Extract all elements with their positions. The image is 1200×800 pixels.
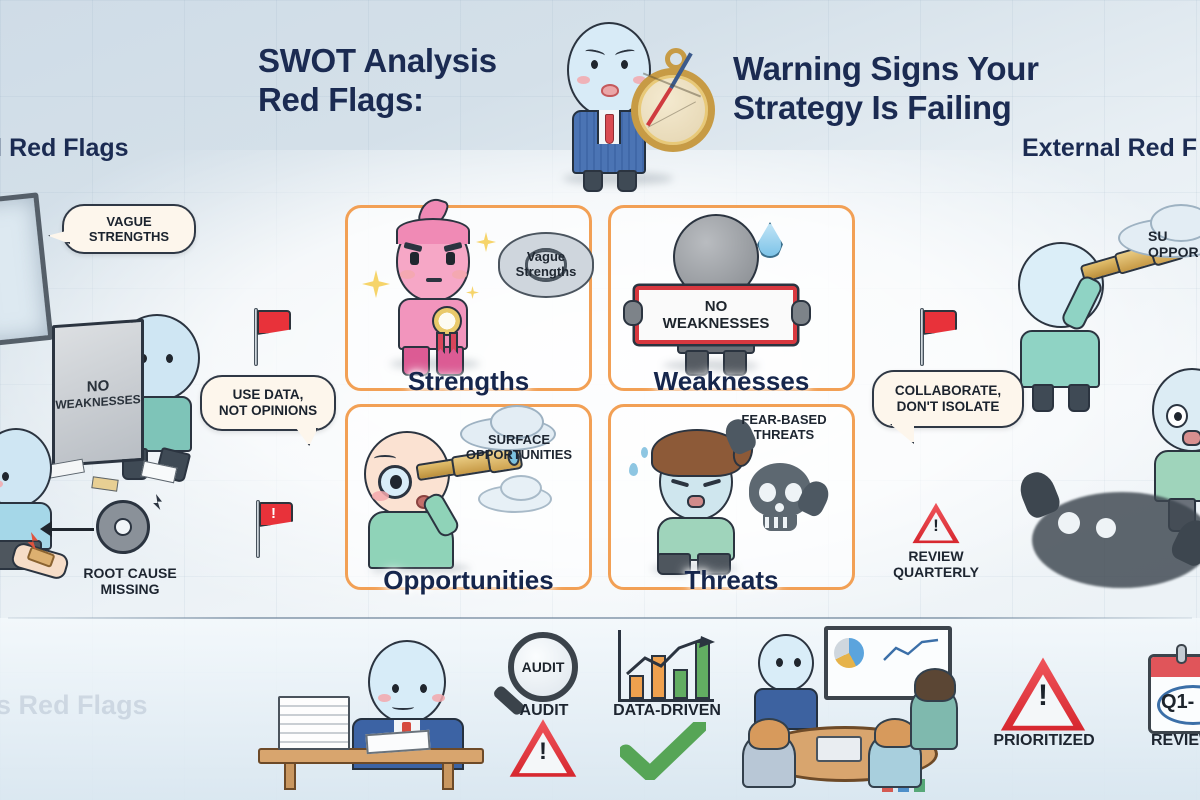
bubble-use-data-not-opinions: USE DATA, NOT OPINIONS	[200, 375, 336, 431]
callout-line-1: FEAR-BASED	[719, 413, 849, 428]
bubble-line-1: VAGUE	[89, 214, 169, 229]
red-flag-icon	[250, 308, 294, 366]
callout-fear-based-threats: FEAR-BASED THREATS	[719, 413, 849, 443]
swot-quadrant-opportunities[interactable]: SURFACE OPPORTUNITIES Opportunities	[345, 404, 592, 590]
caption-review-quarterly: REVIEW QUARTERLY	[876, 548, 996, 580]
warning-triangle-icon: !	[509, 718, 577, 778]
caption-line-2: OPPOR	[1148, 244, 1200, 260]
no-weaknesses-sign: NO WEAKNESSES	[635, 286, 797, 344]
caption-text: AUDIT	[520, 702, 569, 719]
caption-line-1: SU	[1148, 228, 1200, 244]
sign-line-1: NO	[705, 298, 728, 315]
right-telescope-figure	[1018, 242, 1168, 402]
calendar-q1-icon: Q1-	[1148, 654, 1200, 734]
bubble-line-1: COLLABORATE,	[895, 383, 1001, 399]
swot-quadrant-weaknesses[interactable]: NO WEAKNESSES Weaknesses	[608, 205, 855, 391]
audit-magnifier-icon: AUDIT	[508, 632, 578, 702]
bubble-collaborate-dont-isolate: COLLABORATE, DON'T ISOLATE	[872, 370, 1024, 428]
sweat-drop-icon	[757, 222, 783, 258]
audit-icon-text: AUDIT	[522, 659, 565, 675]
board-line-2: WEAKNESSES	[55, 392, 140, 412]
bubble-line-2: DON'T ISOLATE	[895, 399, 1001, 415]
sparkle-icon	[476, 232, 496, 252]
infographic-canvas: SWOT Analysis Red Flags: Warning Signs Y…	[0, 0, 1200, 800]
callout-line-2: THREATS	[719, 428, 849, 443]
warning-triangle-icon: !	[912, 502, 960, 544]
callout-line-1: SURFACE	[444, 433, 594, 448]
skull-shadow-icon	[745, 463, 815, 539]
opportunities-art: SURFACE OPPORTUNITIES	[348, 407, 589, 587]
bubble-line-2: STRENGTHS	[89, 229, 169, 244]
quadrant-label-opportunities: Opportunities	[348, 565, 589, 596]
caption-text: REVIEW Q	[1151, 732, 1200, 749]
left-injured-figure	[0, 428, 82, 588]
sparkle-icon	[362, 270, 390, 298]
caption-review-quarter: REVIEW Q	[1126, 732, 1200, 750]
cloud-icon	[500, 475, 542, 501]
callout-vague-strengths: Vague Strengths	[498, 232, 594, 298]
callout-line-1: Vague	[527, 249, 565, 264]
swot-quadrant-threats[interactable]: FEAR-BASED THREATS Threats	[608, 404, 855, 590]
bubble-line-1: USE DATA,	[219, 387, 317, 403]
section-label-internal: nal Red Flags	[0, 134, 129, 163]
title-line-2: Red Flags:	[258, 81, 497, 120]
paper-stack-icon	[278, 696, 350, 750]
swot-quadrant-strengths[interactable]: Vague Strengths Strengths	[345, 205, 592, 391]
caption-surface-opportunities-right: SU OPPOR	[1148, 228, 1200, 260]
team-meeting-scene	[742, 626, 958, 798]
section-divider	[8, 617, 1192, 619]
callout-surface-opportunities: SURFACE OPPORTUNITIES	[444, 433, 594, 463]
quadrant-label-weaknesses: Weaknesses	[611, 366, 852, 397]
weaknesses-art: NO WEAKNESSES	[611, 208, 852, 388]
caption-line-1: ROOT CAUSE	[60, 565, 200, 581]
bubble-line-2: NOT OPINIONS	[219, 403, 317, 419]
red-flag-exclaim-icon: !	[252, 500, 296, 558]
green-check-icon	[620, 722, 706, 780]
section-label-external: External Red F	[1022, 134, 1197, 163]
caption-root-cause-missing: ROOT CAUSE MISSING	[60, 565, 200, 597]
caption-text: DATA-DRIVEN	[613, 702, 721, 719]
caption-line-2: MISSING	[60, 581, 200, 597]
center-businessman-figure	[545, 22, 720, 192]
callout-line-2: Strengths	[516, 264, 577, 279]
quadrant-label-threats: Threats	[611, 565, 852, 596]
bubble-vague-strengths: VAGUE STRENGTHS	[62, 204, 196, 254]
caption-data-driven: DATA-DRIVEN	[600, 702, 734, 720]
prioritized-warning-icon: !	[1000, 656, 1086, 732]
page-title-left: SWOT Analysis Red Flags:	[258, 42, 497, 119]
strengths-art: Vague Strengths	[348, 208, 589, 388]
caption-prioritized: PRIORITIZED	[980, 732, 1108, 750]
red-flag-icon	[916, 308, 960, 366]
bottom-desk-worker	[256, 640, 486, 790]
callout-line-2: OPPORTUNITIES	[444, 448, 594, 463]
page-title-right: Warning Signs Your Strategy Is Failing	[733, 50, 1039, 127]
title-line-1: SWOT Analysis	[258, 42, 497, 81]
quadrant-label-strengths: Strengths	[348, 366, 589, 397]
board-line-1: NO	[87, 377, 110, 396]
gear-hole	[114, 518, 132, 536]
caption-line-2: QUARTERLY	[876, 564, 996, 580]
title-line-4: Strategy Is Failing	[733, 89, 1039, 128]
caption-line-1: REVIEW	[876, 548, 996, 564]
data-driven-chart-icon	[618, 630, 714, 702]
sign-line-2: WEAKNESSES	[663, 315, 770, 332]
sparkle-icon	[466, 286, 479, 299]
calendar-text: Q1-	[1161, 691, 1194, 714]
award-ribbon-icon	[432, 306, 462, 336]
caption-text: PRIORITIZED	[993, 732, 1094, 749]
threats-art: FEAR-BASED THREATS	[611, 407, 852, 587]
title-line-3: Warning Signs Your	[733, 50, 1039, 89]
